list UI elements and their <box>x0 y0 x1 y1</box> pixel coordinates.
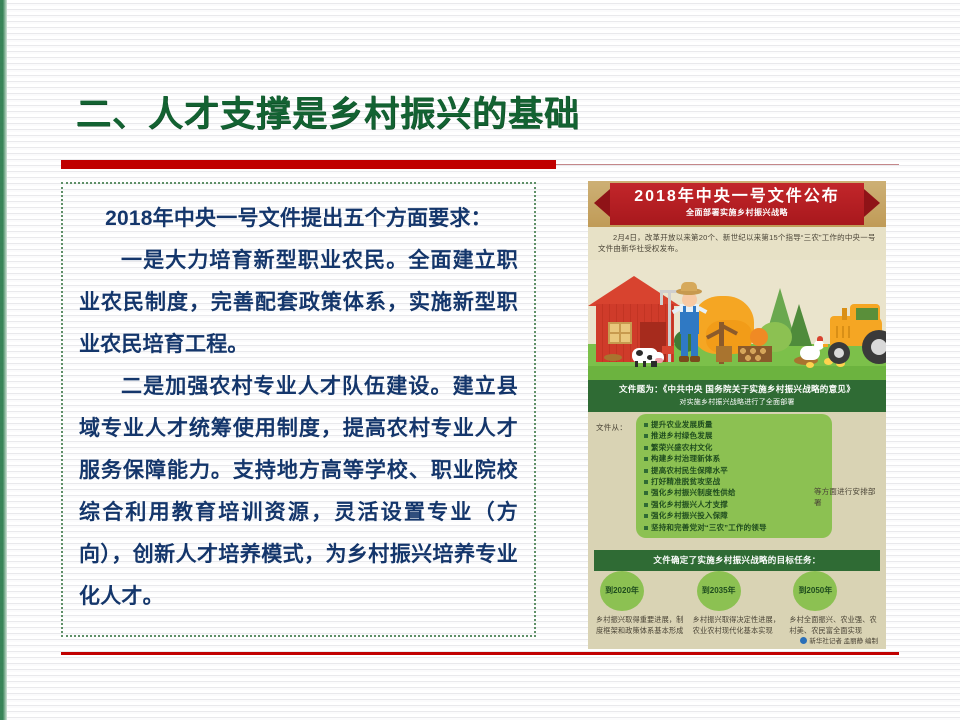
requirements-list-item-label: 坚持和完善党对“三农”工作的领导 <box>651 523 767 532</box>
requirements-list-item: 推进乡村绿色发展 <box>644 430 826 441</box>
square-bullet-icon <box>644 469 648 473</box>
requirements-list-item-label: 强化乡村振兴制度性供给 <box>651 488 736 497</box>
farmer-left-leg-icon <box>681 332 688 358</box>
farmer-right-leg-icon <box>691 332 698 358</box>
tractor-grille-icon <box>836 326 854 338</box>
requirements-side-note: 等方面进行安排部署 <box>814 486 876 508</box>
requirements-list-item: 提升农业发展质量 <box>644 419 826 430</box>
milestone-item: 到2020年乡村振兴取得重要进展，制度框架和政策体系基本形成 <box>592 571 689 649</box>
requirements-list-label: 文件从： <box>596 422 627 433</box>
left-accent-strip <box>0 0 7 720</box>
square-bullet-icon <box>644 503 648 507</box>
cow-legs-icon <box>635 361 657 367</box>
requirements-list-item-label: 提高农村民生保障水平 <box>651 466 728 475</box>
square-bullet-icon <box>644 446 648 450</box>
infographic-ribbon-header: 2018年中央一号文件公布 全面部署实施乡村振兴战略 <box>588 181 886 227</box>
requirements-list-item-label: 繁荣兴盛农村文化 <box>651 443 713 452</box>
body-paragraph-item-1: 一是大力培育新型职业农民。全面建立职业农民制度，完善配套政策体系，实施新型职业农… <box>79 240 518 366</box>
tree-stump-icon <box>716 346 732 362</box>
bush-orange-icon <box>750 328 768 346</box>
square-bullet-icon <box>644 434 648 438</box>
grass-ground-shadow <box>588 366 886 380</box>
milestone-description: 乡村全面振兴、农业强、农村美、农民富全面实现 <box>789 615 878 636</box>
title-divider <box>61 160 899 170</box>
chick-3-icon <box>806 362 814 368</box>
requirements-list-item: 坚持和完善党对“三农”工作的领导 <box>644 522 826 533</box>
divider-thick-segment <box>61 160 556 169</box>
requirements-list-item: 构建乡村治理新体系 <box>644 453 826 464</box>
ribbon-inner: 2018年中央一号文件公布 全面部署实施乡村振兴战略 <box>610 183 864 225</box>
body-paragraph-item-2: 二是加强农村专业人才队伍建设。建立县域专业人才统筹使用制度，提高农村专业人才服务… <box>79 366 518 618</box>
ribbon-tail-left-icon <box>594 189 610 217</box>
milestone-item: 到2035年乡村振兴取得决定性进展，农业农村现代化基本实现 <box>689 571 786 649</box>
requirements-list-item-label: 强化乡村振兴投入保障 <box>651 511 728 520</box>
document-title-line-1: 文件题为：《中共中央 国务院关于实施乡村振兴战略的意见》 <box>594 384 880 395</box>
farmer-left-boot-icon <box>679 356 689 362</box>
bottom-divider <box>61 652 899 655</box>
tractor-front-hub-icon <box>834 348 844 358</box>
requirements-list-item: 打好精准脱贫攻坚战 <box>644 476 826 487</box>
square-bullet-icon <box>644 480 648 484</box>
document-title-line-2: 对实施乡村振兴战略进行了全面部署 <box>594 397 880 407</box>
tractor-exhaust-icon <box>842 308 847 320</box>
page-title: 二、人才支撑是乡村振兴的基础 <box>76 86 580 137</box>
credit-text: 新华社记者 孟丽静 编制 <box>809 638 878 645</box>
milestone-year-badge: 到2035年 <box>697 571 741 611</box>
milestone-description: 乡村振兴取得决定性进展，农业农村现代化基本实现 <box>693 615 782 636</box>
slide-canvas: 二、人才支撑是乡村振兴的基础 2018年中央一号文件提出五个方面要求： 一是大力… <box>0 0 960 720</box>
infographic-image: 2018年中央一号文件公布 全面部署实施乡村振兴战略 2月4日，改革开放以来第2… <box>588 181 886 649</box>
requirements-list-item: 强化乡村振兴投入保障 <box>644 510 826 521</box>
requirements-list: 提升农业发展质量推进乡村绿色发展繁荣兴盛农村文化构建乡村治理新体系提高农村民生保… <box>636 414 832 538</box>
square-bullet-icon <box>644 514 648 518</box>
barn-window-icon <box>608 322 632 344</box>
requirements-list-item: 强化乡村振兴制度性供给 <box>644 487 826 498</box>
ribbon-title: 2018年中央一号文件公布 <box>610 188 864 206</box>
hen-comb-icon <box>817 336 823 341</box>
tractor-window-icon <box>856 308 878 320</box>
requirements-list-item: 提高农村民生保障水平 <box>644 465 826 476</box>
body-paragraph-intro: 2018年中央一号文件提出五个方面要求： <box>79 198 518 240</box>
requirements-list-section: 文件从： 提升农业发展质量推进乡村绿色发展繁荣兴盛农村文化构建乡村治理新体系提高… <box>588 412 886 548</box>
ribbon-tail-right-icon <box>864 189 880 217</box>
square-bullet-icon <box>644 526 648 530</box>
red-flag-icon <box>662 346 674 354</box>
farmer-strap-left-icon <box>683 306 686 316</box>
goals-banner: 文件确定了实施乡村振兴战略的目标任务： <box>594 550 880 571</box>
ribbon-subtitle: 全面部署实施乡村振兴战略 <box>610 207 864 218</box>
woodpile-icon <box>738 346 772 362</box>
farmer-hat-crown-icon <box>681 282 697 291</box>
document-title-banner: 文件题为：《中共中央 国务院关于实施乡村振兴战略的意见》 对实施乡村振兴战略进行… <box>588 380 886 412</box>
square-bullet-icon <box>644 491 648 495</box>
divider-thin-segment <box>556 164 899 165</box>
requirements-list-item-label: 构建乡村治理新体系 <box>651 454 720 463</box>
tractor-rear-hub-icon <box>871 339 886 355</box>
body-text-panel: 2018年中央一号文件提出五个方面要求： 一是大力培育新型职业农民。全面建立职业… <box>61 182 536 637</box>
infographic-credit: 新华社记者 孟丽静 编制 <box>800 635 878 645</box>
farmer-right-boot-icon <box>690 356 700 362</box>
hen-beak-icon <box>823 344 828 347</box>
cow-spot-icon <box>636 350 643 356</box>
requirements-list-item-label: 强化乡村振兴人才支撑 <box>651 500 728 509</box>
square-bullet-icon <box>644 457 648 461</box>
milestone-description: 乡村振兴取得重要进展，制度框架和政策体系基本形成 <box>596 615 685 636</box>
milestone-year-badge: 到2020年 <box>600 571 644 611</box>
requirements-list-item: 强化乡村振兴人才支撑 <box>644 499 826 510</box>
square-bullet-icon <box>644 423 648 427</box>
requirements-list-item-label: 提升农业发展质量 <box>651 420 713 429</box>
farmer-strap-right-icon <box>693 306 696 316</box>
dirt-mound-left-icon <box>604 354 622 361</box>
xinhua-logo-icon <box>800 637 807 644</box>
requirements-list-item: 繁荣兴盛农村文化 <box>644 442 826 453</box>
requirements-list-item-label: 打好精准脱贫攻坚战 <box>651 477 720 486</box>
farm-illustration <box>588 260 886 380</box>
milestone-year-badge: 到2050年 <box>793 571 837 611</box>
requirements-list-item-label: 推进乡村绿色发展 <box>651 431 713 440</box>
infographic-lead-paragraph: 2月4日，改革开放以来第20个、新世纪以来第15个指导“三农”工作的中央一号文件… <box>588 227 886 260</box>
